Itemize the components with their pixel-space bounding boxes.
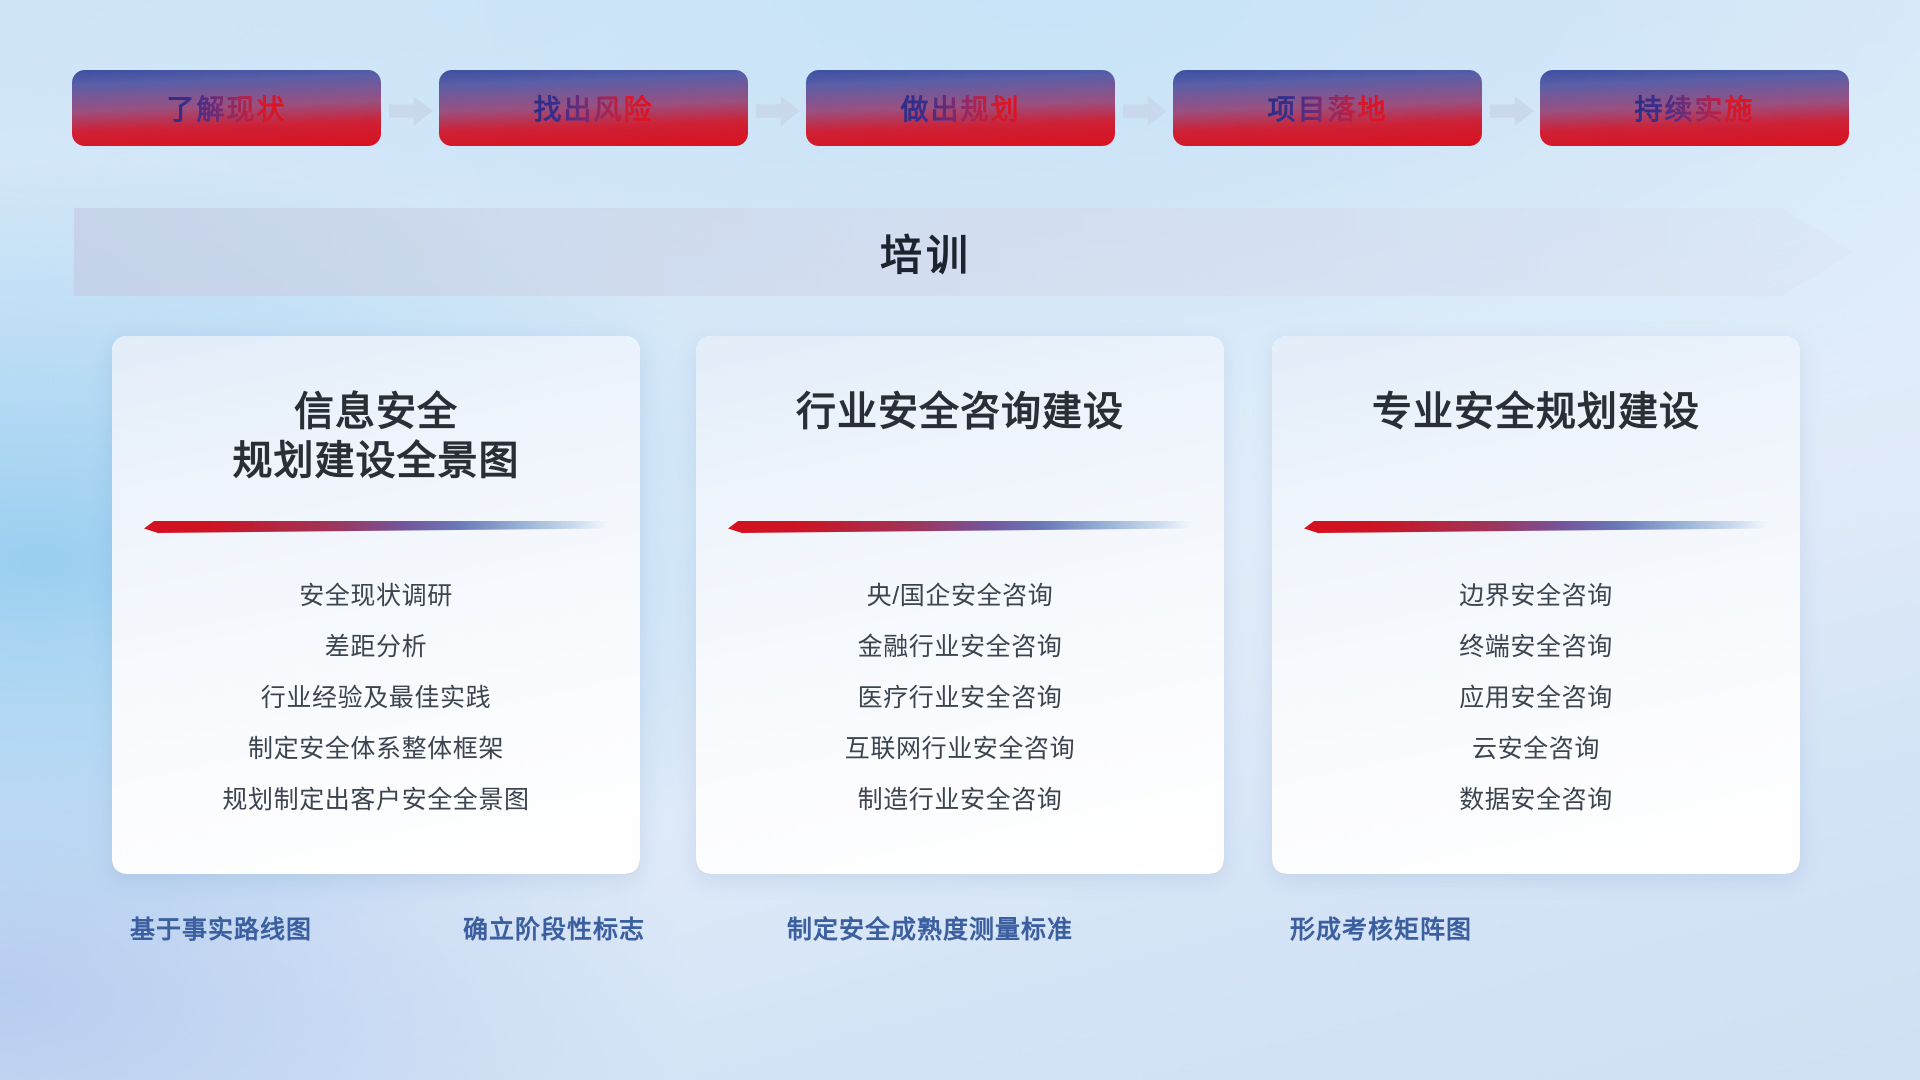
- training-banner-arrow: 培训: [74, 208, 1854, 296]
- step-label-1: 了解现状: [166, 88, 286, 128]
- step-arrow-icon-4: [1490, 96, 1534, 126]
- caption-1: 基于事实路线图: [130, 910, 312, 946]
- list-item: 差距分析: [325, 635, 427, 660]
- step-box-5[interactable]: 持续实施: [1542, 72, 1847, 144]
- card-1-body: 信息安全 规划建设全景图 安全现状调研 差距分析 行业经验及最佳实践 制定安全体…: [112, 336, 640, 874]
- step-box-2[interactable]: 找出风险: [441, 72, 746, 144]
- caption-2: 确立阶段性标志: [463, 910, 645, 946]
- bottom-caption-row: 基于事实路线图 确立阶段性标志 制定安全成熟度测量标准 形成考核矩阵图: [0, 910, 1920, 980]
- caption-3: 制定安全成熟度测量标准: [787, 910, 1073, 946]
- step-arrow-icon-1: [389, 96, 433, 126]
- card-industry-security-consulting[interactable]: 行业安全咨询建设 央/国企安全咨询 金融行业安全咨询 医疗行业安全咨询 互联网行…: [696, 336, 1224, 874]
- card-1-title: 信息安全 规划建设全景图: [233, 388, 520, 486]
- card-2-body: 行业安全咨询建设 央/国企安全咨询 金融行业安全咨询 医疗行业安全咨询 互联网行…: [696, 336, 1224, 874]
- list-item: 行业经验及最佳实践: [261, 686, 491, 711]
- card-2-list: 央/国企安全咨询 金融行业安全咨询 医疗行业安全咨询 互联网行业安全咨询 制造行…: [696, 584, 1224, 813]
- list-item: 金融行业安全咨询: [858, 635, 1063, 660]
- step-box-3[interactable]: 做出规划: [808, 72, 1113, 144]
- card-3-list: 边界安全咨询 终端安全咨询 应用安全咨询 云安全咨询 数据安全咨询: [1272, 584, 1800, 813]
- training-banner-label: 培训: [880, 222, 972, 283]
- list-item: 制定安全体系整体框架: [248, 737, 504, 762]
- card-3-title: 专业安全规划建设: [1372, 388, 1700, 437]
- step-arrow-icon-2: [756, 96, 800, 126]
- list-item: 云安全咨询: [1472, 737, 1600, 762]
- card-3-divider: [1304, 521, 1768, 533]
- card-1-list: 安全现状调研 差距分析 行业经验及最佳实践 制定安全体系整体框架 规划制定出客户…: [112, 584, 640, 813]
- caption-4: 形成考核矩阵图: [1290, 910, 1472, 946]
- list-item: 医疗行业安全咨询: [858, 686, 1063, 711]
- step-label-5: 持续实施: [1634, 88, 1754, 128]
- list-item: 应用安全咨询: [1459, 686, 1613, 711]
- step-label-3: 做出规划: [900, 88, 1020, 128]
- step-label-4: 项目落地: [1267, 88, 1387, 128]
- card-1-divider: [144, 521, 608, 533]
- step-arrow-icon-3: [1123, 96, 1167, 126]
- list-item: 终端安全咨询: [1459, 635, 1613, 660]
- card-2-title: 行业安全咨询建设: [796, 388, 1124, 437]
- card-3-body: 专业安全规划建设 边界安全咨询 终端安全咨询 应用安全咨询 云安全咨询 数据安全…: [1272, 336, 1800, 874]
- card-2-divider: [728, 521, 1192, 533]
- card-information-security-blueprint[interactable]: 信息安全 规划建设全景图 安全现状调研 差距分析 行业经验及最佳实践 制定安全体…: [112, 336, 640, 874]
- card-professional-security-planning[interactable]: 专业安全规划建设 边界安全咨询 终端安全咨询 应用安全咨询 云安全咨询 数据安全…: [1272, 336, 1800, 874]
- step-box-4[interactable]: 项目落地: [1175, 72, 1480, 144]
- list-item: 安全现状调研: [299, 584, 453, 609]
- step-label-2: 找出风险: [533, 88, 653, 128]
- list-item: 央/国企安全咨询: [867, 584, 1054, 609]
- list-item: 制造行业安全咨询: [858, 788, 1063, 813]
- slide-canvas: 了解现状 找出风险 做出规划 项目落地 持续实施 培训 信息安全 规划建设全景图…: [0, 0, 1920, 1080]
- process-step-row: 了解现状 找出风险 做出规划 项目落地 持续实施: [0, 0, 1920, 175]
- list-item: 互联网行业安全咨询: [845, 737, 1075, 762]
- list-item: 边界安全咨询: [1459, 584, 1613, 609]
- list-item: 规划制定出客户安全全景图: [222, 788, 529, 813]
- step-box-1[interactable]: 了解现状: [74, 72, 379, 144]
- list-item: 数据安全咨询: [1459, 788, 1613, 813]
